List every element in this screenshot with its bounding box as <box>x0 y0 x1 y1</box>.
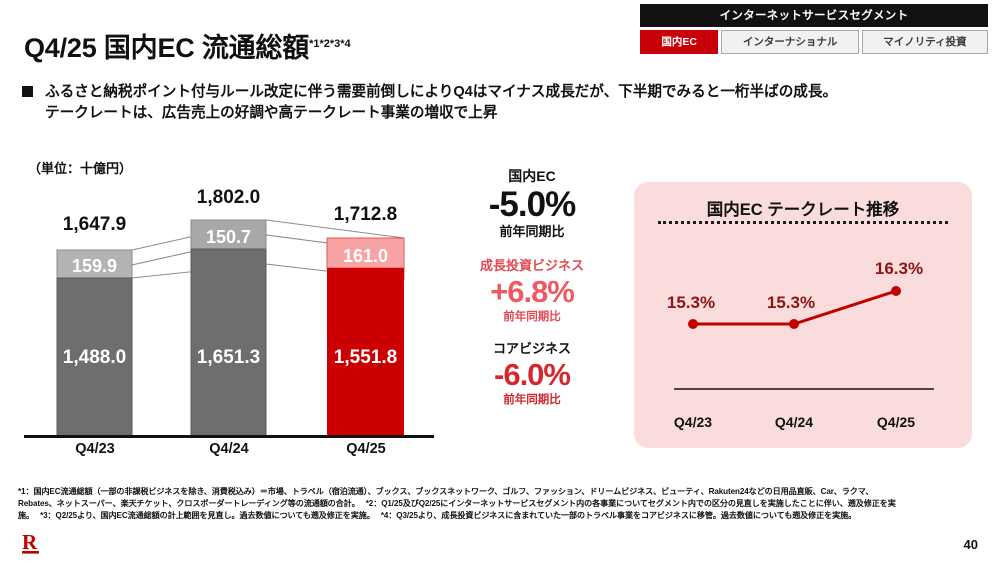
page-title: Q4/25 国内EC 流通総額*1*2*3*4 <box>24 26 351 65</box>
take-rate-label-q4-25: 16.3% <box>875 259 923 278</box>
bar-2-core-segment <box>191 249 266 436</box>
segment-tab-list: 国内EC インターナショナル マイノリティ投資 <box>640 30 988 54</box>
take-rate-point-q4-25 <box>891 286 901 296</box>
kpi-growth-sub: 前年同期比 <box>444 310 620 325</box>
footnote-line-1: *1：国内EC流通総額（一部の非課税ビジネスを除き、消費税込み）＝市場、トラベル… <box>18 486 984 498</box>
kpi-growth-value: +6.8% <box>444 275 620 310</box>
take-rate-title-wrap: 国内EC テークレート推移 <box>634 196 972 230</box>
tab-domestic-ec[interactable]: 国内EC <box>640 30 718 54</box>
kpi-domestic-ec: 国内EC -5.0% 前年同期比 <box>444 168 620 241</box>
page-number: 40 <box>964 537 978 552</box>
take-rate-line-chart: 15.3% 15.3% 16.3% <box>634 236 972 396</box>
bar-chart-axis-labels: Q4/23 Q4/24 Q4/25 <box>24 441 434 465</box>
bar-3-total-label: 1,712.8 <box>334 204 397 225</box>
take-rate-axis-label-q4-25: Q4/25 <box>856 414 936 430</box>
bar-axis-label-q4-24: Q4/24 <box>184 441 274 457</box>
bar-1-core-label: 1,488.0 <box>63 347 126 368</box>
take-rate-label-q4-24: 15.3% <box>767 293 815 312</box>
kpi-spacer-2 <box>444 331 620 341</box>
slide-root: インターネットサービスセグメント 国内EC インターナショナル マイノリティ投資… <box>0 0 1000 565</box>
bullet-text-block: ふるさと納税ポイント付与ルール改定に伴う需要前倒しによりQ4はマイナス成長だが、… <box>45 82 837 125</box>
kpi-main-sub: 前年同期比 <box>444 224 620 241</box>
take-rate-point-q4-23 <box>688 319 698 329</box>
take-rate-axis-labels: Q4/23 Q4/24 Q4/25 <box>634 414 972 436</box>
kpi-growth-label: 成長投資ビジネス <box>444 258 620 275</box>
logo-underline <box>22 551 39 554</box>
kpi-growth-business: 成長投資ビジネス +6.8% 前年同期比 <box>444 258 620 325</box>
take-rate-point-q4-24 <box>789 319 799 329</box>
kpi-core-value: -6.0% <box>444 358 620 393</box>
kpi-core-label: コアビジネス <box>444 341 620 358</box>
bar-3-growth-label: 161.0 <box>343 246 388 266</box>
bar-axis-label-q4-25: Q4/25 <box>321 441 411 457</box>
kpi-main-label: 国内EC <box>444 168 620 186</box>
bar-3-core-label: 1,551.8 <box>334 347 397 368</box>
segment-nav-title: インターネットサービスセグメント <box>640 4 988 27</box>
kpi-core-sub: 前年同期比 <box>444 393 620 408</box>
bullet-line-1: ふるさと納税ポイント付与ルール改定に伴う需要前倒しによりQ4はマイナス成長だが、… <box>45 82 837 103</box>
tab-minority-investment[interactable]: マイノリティ投資 <box>862 30 988 54</box>
bar-1-total-label: 1,647.9 <box>63 214 126 235</box>
bullet-line-2: テークレートは、広告売上の好調や高テークレート事業の増収で上昇 <box>45 103 837 124</box>
page-title-footnote-marker: *1*2*3*4 <box>309 38 351 50</box>
bar-chart-svg: 1,647.9 1,802.0 1,712.8 159.9 150.7 161.… <box>24 185 434 470</box>
kpi-main-value: -5.0% <box>444 186 620 225</box>
chart-unit-label: （単位：十億円） <box>28 158 132 177</box>
footnote-line-2: Rebates、ネットスーパー、楽天チケット、クロスボーダートレーディング等の流… <box>18 498 984 510</box>
page-title-text: Q4/25 国内EC 流通総額 <box>24 33 309 63</box>
take-rate-label-q4-23: 15.3% <box>667 293 715 312</box>
take-rate-panel: 国内EC テークレート推移 15.3% 15.3% 16.3% Q4/23 Q4… <box>634 182 972 448</box>
rakuten-r-logo-icon: R <box>20 530 50 558</box>
bar-2-growth-label: 150.7 <box>206 227 251 247</box>
take-rate-axis-label-q4-24: Q4/24 <box>754 414 834 430</box>
rakuten-logo-svg: R <box>20 530 50 558</box>
bar-1-growth-label: 159.9 <box>72 256 117 276</box>
take-rate-axis-label-q4-23: Q4/23 <box>653 414 733 430</box>
take-rate-dotted-rule <box>658 221 948 224</box>
footnotes: *1：国内EC流通総額（一部の非課税ビジネスを除き、消費税込み）＝市場、トラベル… <box>18 486 984 522</box>
summary-bullet: ふるさと納税ポイント付与ルール改定に伴う需要前倒しによりQ4はマイナス成長だが、… <box>22 82 982 125</box>
tab-international[interactable]: インターナショナル <box>721 30 858 54</box>
segment-nav: インターネットサービスセグメント 国内EC インターナショナル マイノリティ投資 <box>640 4 988 54</box>
kpi-spacer-1 <box>444 248 620 258</box>
bar-axis-label-q4-23: Q4/23 <box>50 441 140 457</box>
bullet-square-icon <box>22 86 33 97</box>
gms-bar-chart: 1,647.9 1,802.0 1,712.8 159.9 150.7 161.… <box>24 185 434 470</box>
take-rate-title: 国内EC テークレート推移 <box>698 196 909 220</box>
bar-2-total-label: 1,802.0 <box>197 187 260 208</box>
kpi-core-business: コアビジネス -6.0% 前年同期比 <box>444 341 620 408</box>
bar-2-core-label: 1,651.3 <box>197 347 260 368</box>
kpi-panel: 国内EC -5.0% 前年同期比 成長投資ビジネス +6.8% 前年同期比 コア… <box>444 168 620 415</box>
take-rate-svg: 15.3% 15.3% 16.3% <box>634 236 972 396</box>
logo-letter: R <box>22 530 38 554</box>
footnote-line-3: 施。 *3：Q2/25より、国内EC流通総額の計上範囲を見直し。過去数値について… <box>18 510 984 522</box>
